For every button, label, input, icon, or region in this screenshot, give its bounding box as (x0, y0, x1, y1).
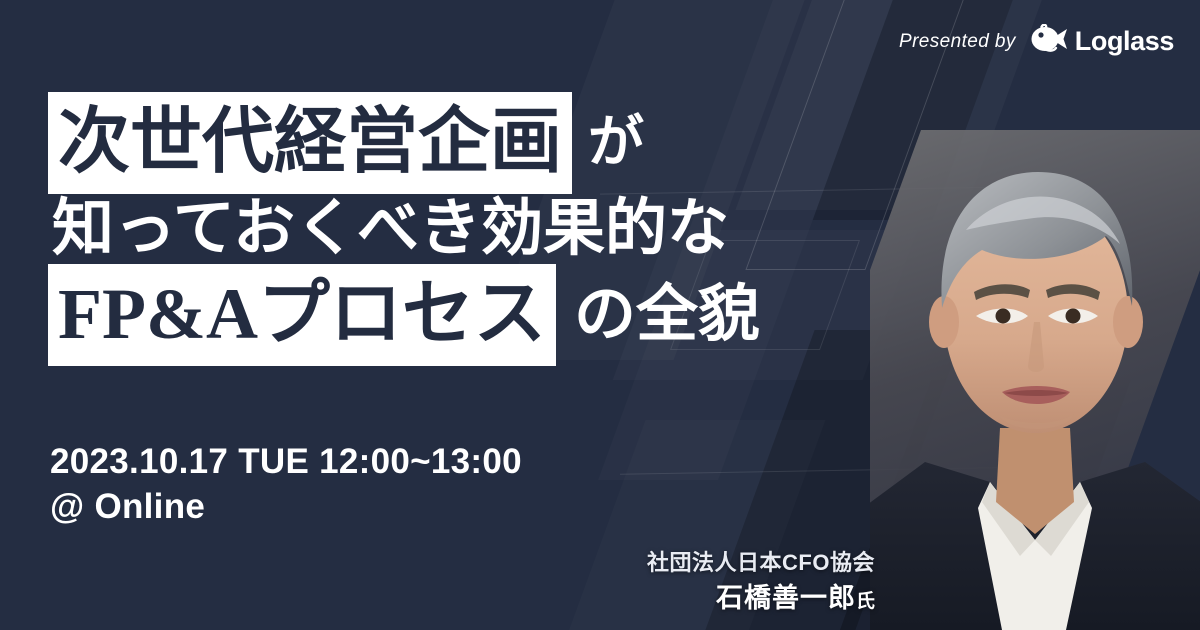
headline-suffix-3: の全貌 (556, 284, 760, 346)
speaker-portrait (870, 0, 1200, 630)
headline-line-3: FP&Aプロセス の全貌 (48, 264, 760, 366)
event-datetime: 2023.10.17 TUE 12:00~13:00 (50, 440, 522, 485)
headline-text-2: 知っておくべき効果的な (52, 198, 729, 260)
speaker-name-row: 石橋善一郎氏 (647, 579, 875, 618)
headline-suffix-1: が (572, 115, 644, 171)
event-details: 2023.10.17 TUE 12:00~13:00 @ Online (50, 440, 522, 530)
webinar-banner: Presented by Loglass 次世代経営企画 が 知っておくべき効果… (0, 0, 1200, 630)
speaker-organization: 社団法人日本CFO協会 (647, 546, 875, 579)
headline-highlight-3: FP&Aプロセス (48, 264, 556, 366)
event-location: @ Online (50, 485, 522, 530)
presented-by-label: Presented by (899, 31, 1016, 53)
portrait-image (870, 110, 1200, 630)
headline-highlight-1: 次世代経営企画 (48, 92, 572, 194)
speaker-honorific: 氏 (856, 591, 875, 612)
brand-name: Loglass (1075, 26, 1174, 57)
speaker-name: 石橋善一郎 (716, 583, 856, 613)
headline-line-1: 次世代経営企画 が (48, 92, 760, 194)
loglass-logo: Loglass (1030, 24, 1174, 59)
speaker-credit: 社団法人日本CFO協会 石橋善一郎氏 (647, 546, 875, 618)
presented-by-block: Presented by Loglass (899, 24, 1174, 59)
headline: 次世代経営企画 が 知っておくべき効果的な FP&Aプロセス の全貌 (48, 92, 760, 366)
headline-line-2: 知っておくべき効果的な (48, 198, 760, 260)
whale-icon (1030, 24, 1068, 59)
